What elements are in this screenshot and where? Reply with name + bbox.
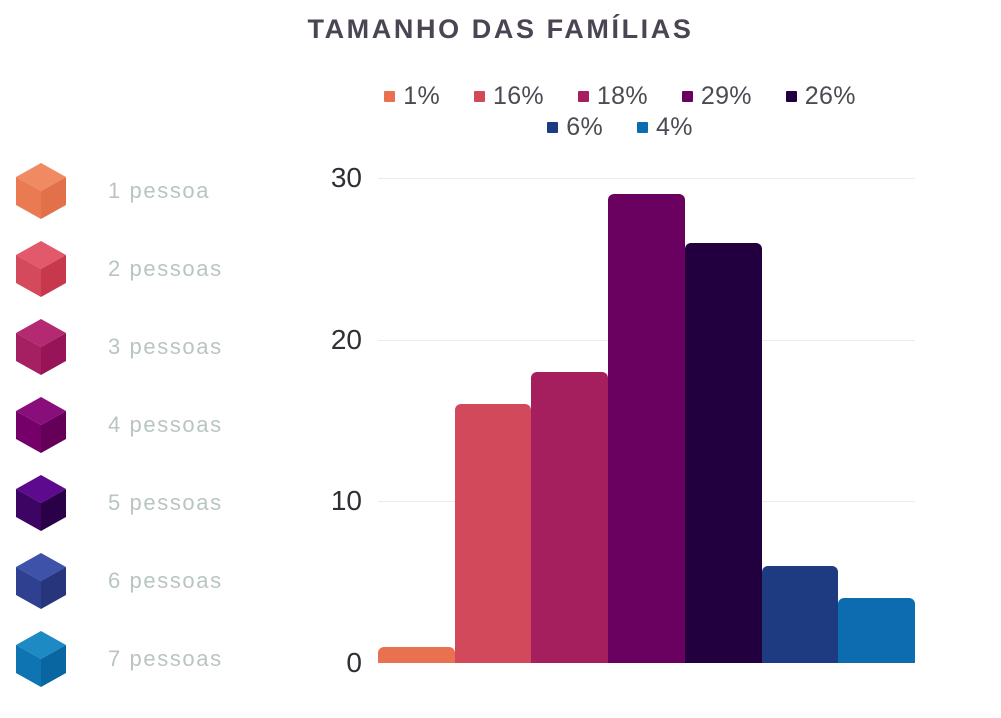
y-axis-tick-label: 0: [300, 647, 362, 679]
bar[interactable]: [531, 372, 608, 663]
bars-series: [378, 0, 915, 718]
bar-chart-plot: 0102030: [0, 0, 1001, 718]
y-axis-tick-label: 20: [300, 324, 362, 356]
bar[interactable]: [455, 404, 532, 663]
y-axis: 0102030: [300, 0, 362, 718]
chart-page: TAMANHO DAS FAMÍLIAS 1% 16% 18% 29% 26%: [0, 0, 1001, 718]
y-axis-tick-label: 10: [300, 485, 362, 517]
bar[interactable]: [762, 566, 839, 663]
bar[interactable]: [685, 243, 762, 663]
bar[interactable]: [838, 598, 915, 663]
bar[interactable]: [378, 647, 455, 663]
bar[interactable]: [608, 194, 685, 663]
y-axis-tick-label: 30: [300, 162, 362, 194]
